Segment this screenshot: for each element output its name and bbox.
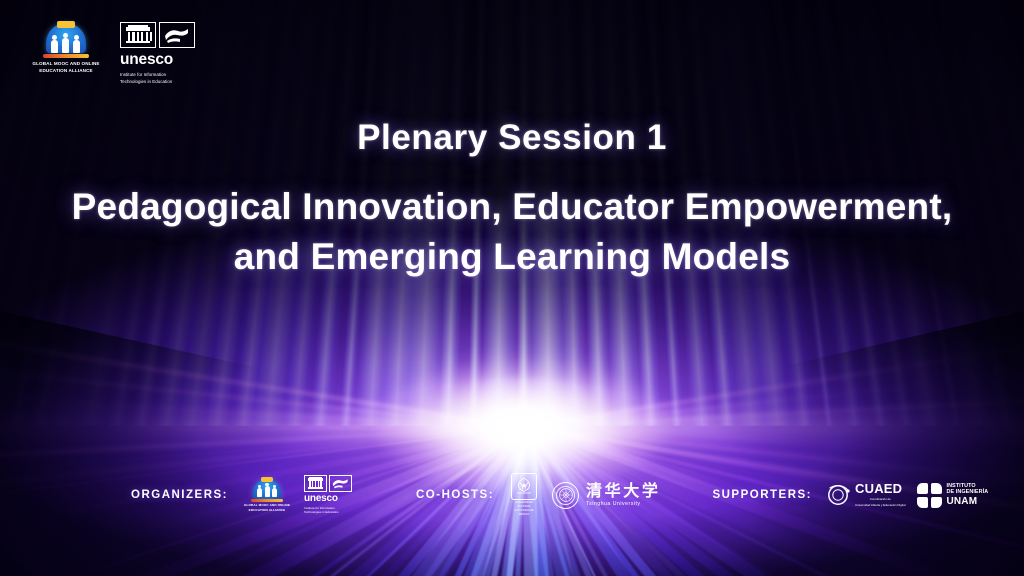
supporters-label: SUPPORTERS: bbox=[712, 489, 812, 501]
topic-title-line1: Pedagogical Innovation, Educator Empower… bbox=[0, 182, 1024, 232]
unesco-wordmark: unesco bbox=[304, 494, 358, 504]
unam-caption-line3: MÉXICO bbox=[508, 513, 540, 517]
slide-content: GLOBAL MOOC AND ONLINE EDUCATION ALLIANC… bbox=[0, 0, 1024, 576]
cohosts-label: CO-HOSTS: bbox=[416, 489, 494, 501]
logo-unam: UNIVERSIDAD NACIONAL AUTÓNOMA DE MÉXICO bbox=[508, 473, 540, 517]
unesco-sub-line1: Institute for Information bbox=[120, 71, 204, 78]
footer-gmoo-line2: EDUCATION ALLIANCE bbox=[242, 508, 292, 512]
session-title: Plenary Session 1 bbox=[0, 118, 1024, 158]
cuaed-name: CUAED bbox=[855, 482, 905, 495]
unesco-globe-icon bbox=[159, 22, 195, 48]
logo-cuaed: CUAED Coordinación de Universidad Abiert… bbox=[826, 482, 905, 508]
title-block: Plenary Session 1 Pedagogical Innovation… bbox=[0, 118, 1024, 281]
title-slide: GLOBAL MOOC AND ONLINE EDUCATION ALLIANC… bbox=[0, 0, 1024, 576]
unesco-emblem-icons bbox=[304, 475, 358, 492]
organizers-label: ORGANIZERS: bbox=[131, 489, 228, 501]
unesco-wordmark: unesco bbox=[120, 52, 204, 68]
logo-unesco-iite: unesco Institute for Information Technol… bbox=[120, 22, 204, 85]
unam-shield-icon bbox=[511, 473, 537, 500]
instituto-ingenieria-squares-icon bbox=[917, 483, 942, 508]
unesco-temple-icon bbox=[304, 475, 327, 492]
unesco-temple-icon bbox=[120, 22, 156, 48]
header-logos: GLOBAL MOOC AND ONLINE EDUCATION ALLIANC… bbox=[30, 22, 204, 85]
global-mooc-alliance-icon bbox=[41, 22, 91, 58]
logo-gmoo-line2: EDUCATION ALLIANCE bbox=[30, 68, 102, 75]
organizers-logos: GLOBAL MOOC AND ONLINE EDUCATION ALLIANC… bbox=[242, 475, 358, 515]
credit-group-organizers: ORGANIZERS: GLOBAL MOOC AND ONLINE EDUC bbox=[131, 475, 358, 515]
cuaed-wordmark: CUAED Coordinación de Universidad Abiert… bbox=[855, 482, 905, 507]
tsinghua-chinese-name: 清华大学 bbox=[586, 483, 660, 500]
unesco-emblem-icons bbox=[120, 22, 204, 48]
credit-group-cohosts: CO-HOSTS: UNIVERSIDAD NACIONAL bbox=[416, 473, 660, 517]
logo-instituto-de-ingenieria-unam: INSTITUTO DE INGENIERÍA UNAM bbox=[917, 483, 988, 508]
instituto-ingenieria-wordmark: INSTITUTO DE INGENIERÍA UNAM bbox=[946, 483, 988, 507]
unesco-globe-icon bbox=[329, 475, 352, 492]
cuaed-sub-line1: Coordinación de bbox=[855, 497, 905, 502]
instituto-line2: DE INGENIERÍA bbox=[946, 489, 988, 495]
supporters-logos: CUAED Coordinación de Universidad Abiert… bbox=[826, 482, 988, 508]
unesco-sub-line2: Technologies in Education bbox=[120, 78, 204, 85]
global-mooc-alliance-icon bbox=[250, 478, 284, 502]
logo-gmoo-line1: GLOBAL MOOC AND ONLINE bbox=[30, 61, 102, 68]
cuaed-sub-line2: Universidad Abierta y Educación Digital bbox=[855, 503, 905, 508]
instituto-line3: UNAM bbox=[946, 496, 988, 507]
tsinghua-seal-icon bbox=[552, 482, 579, 509]
unam-caption-line1: UNIVERSIDAD NACIONAL bbox=[508, 501, 540, 509]
unesco-sub-line2: Technologies in Education bbox=[304, 510, 358, 515]
cohosts-logos: UNIVERSIDAD NACIONAL AUTÓNOMA DE MÉXICO bbox=[508, 473, 660, 517]
cuaed-orbit-icon bbox=[826, 482, 852, 508]
logo-global-mooc-alliance: GLOBAL MOOC AND ONLINE EDUCATION ALLIANC… bbox=[30, 22, 102, 75]
topic-title: Pedagogical Innovation, Educator Empower… bbox=[0, 182, 1024, 281]
footer-logo-global-mooc-alliance: GLOBAL MOOC AND ONLINE EDUCATION ALLIANC… bbox=[242, 478, 292, 512]
logo-tsinghua-university: 清华大学 Tsinghua University bbox=[552, 482, 660, 509]
credit-group-supporters: SUPPORTERS: CUAED bbox=[712, 482, 988, 508]
topic-title-line2: and Emerging Learning Models bbox=[0, 232, 1024, 282]
tsinghua-english-name: Tsinghua University bbox=[586, 501, 660, 507]
footer-logo-unesco-iite: unesco Institute for Information Technol… bbox=[304, 475, 358, 515]
credits-bar: ORGANIZERS: GLOBAL MOOC AND ONLINE EDUC bbox=[0, 478, 1024, 512]
tsinghua-wordmark: 清华大学 Tsinghua University bbox=[586, 483, 660, 507]
footer-gmoo-line1: GLOBAL MOOC AND ONLINE bbox=[242, 503, 292, 507]
